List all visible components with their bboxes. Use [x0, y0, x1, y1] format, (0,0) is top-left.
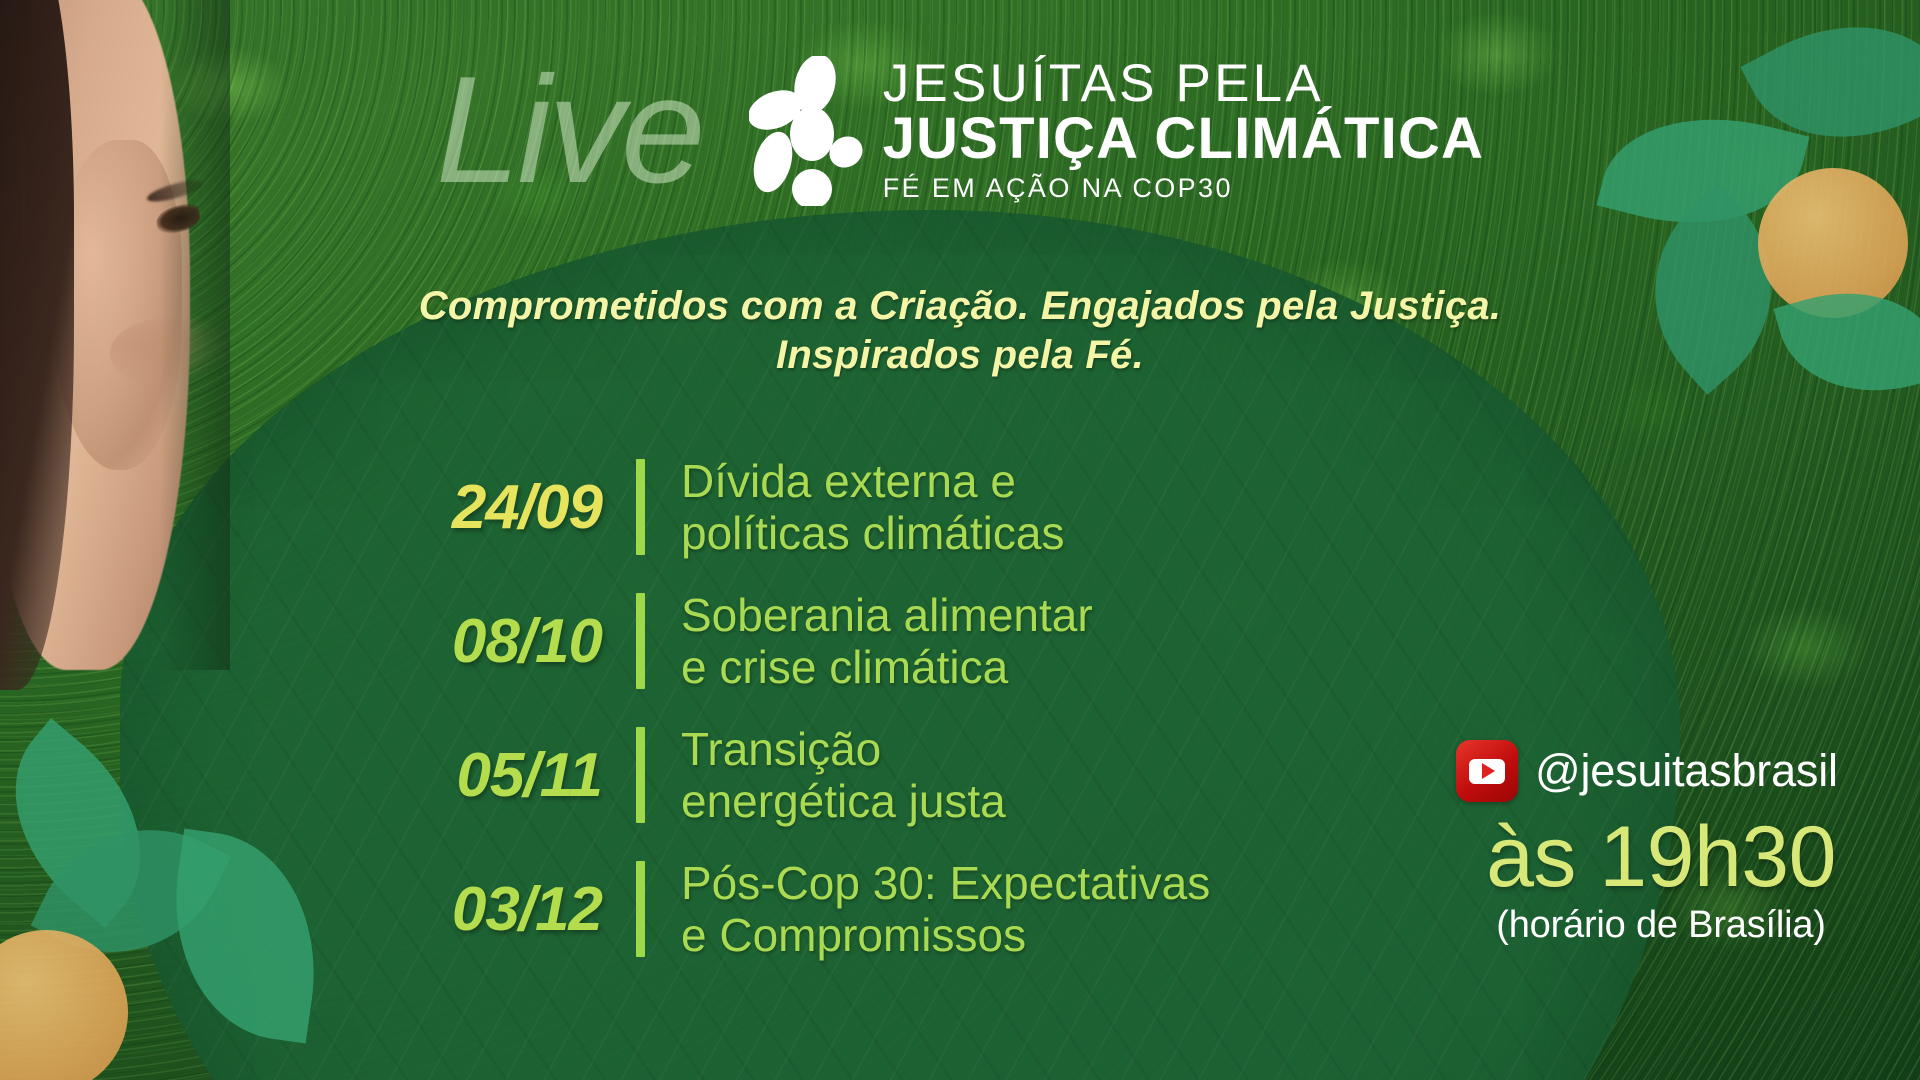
leaf-icon: [157, 829, 333, 1044]
schedule-topic-line-1: Transição: [681, 723, 1006, 775]
subtitle-line-1: Comprometidos com a Criação. Engajados p…: [0, 282, 1920, 331]
schedule-topic-line-1: Soberania alimentar: [681, 589, 1093, 641]
youtube-icon-screen: [1469, 759, 1505, 784]
brand-text: JESUÍTAS PELA JUSTIÇA CLIMÁTICA FÉ EM AÇ…: [883, 56, 1484, 204]
amber-circle-shape: [0, 930, 128, 1080]
youtube-icon[interactable]: [1456, 740, 1518, 802]
broadcast-info: @jesuitasbrasil às 19h30 (horário de Bra…: [1446, 740, 1876, 947]
schedule-row: 05/11 Transição energética justa: [340, 708, 1400, 842]
brand-lockup: JESUÍTAS PELA JUSTIÇA CLIMÁTICA FÉ EM AÇ…: [749, 56, 1484, 206]
live-label: Live: [436, 54, 703, 206]
schedule-date: 08/10: [340, 606, 636, 677]
schedule-date: 24/09: [340, 472, 636, 543]
live-announcement-poster: Live JESUÍTAS PELA JUSTIÇA CLIMÁTICA: [0, 0, 1920, 1080]
schedule-row: 08/10 Soberania alimentar e crise climát…: [340, 574, 1400, 708]
schedule-list: 24/09 Dívida externa e políticas climáti…: [340, 440, 1400, 976]
subtitle-line-2: Inspirados pela Fé.: [0, 331, 1920, 380]
poster-subtitle: Comprometidos com a Criação. Engajados p…: [0, 282, 1920, 380]
schedule-date: 03/12: [340, 874, 636, 945]
timezone-note: (horário de Brasília): [1446, 904, 1876, 947]
youtube-channel-row[interactable]: @jesuitasbrasil: [1446, 740, 1876, 802]
youtube-handle[interactable]: @jesuitasbrasil: [1535, 745, 1838, 797]
schedule-divider: [636, 861, 645, 957]
schedule-divider: [636, 593, 645, 689]
schedule-topic-line-2: energética justa: [681, 775, 1006, 827]
broadcast-time: às 19h30: [1446, 812, 1876, 902]
schedule-row: 24/09 Dívida externa e políticas climáti…: [340, 440, 1400, 574]
brand-line-1: JESUÍTAS PELA: [883, 56, 1484, 111]
schedule-row: 03/12 Pós-Cop 30: Expectativas e Comprom…: [340, 842, 1400, 976]
schedule-date: 05/11: [340, 740, 636, 811]
schedule-topic-line-2: e Compromissos: [681, 909, 1210, 961]
schedule-topic-line-2: e crise climática: [681, 641, 1093, 693]
decoration-bottom-left: [0, 780, 330, 1080]
flower-petal-logo-icon: [749, 56, 865, 206]
schedule-topic-line-1: Pós-Cop 30: Expectativas: [681, 857, 1210, 909]
schedule-topic-line-2: políticas climáticas: [681, 507, 1064, 559]
schedule-divider: [636, 727, 645, 823]
poster-header: Live JESUÍTAS PELA JUSTIÇA CLIMÁTICA: [0, 48, 1920, 238]
schedule-topic-line-1: Dívida externa e: [681, 455, 1064, 507]
schedule-divider: [636, 459, 645, 555]
schedule-topic: Dívida externa e políticas climáticas: [645, 455, 1064, 560]
schedule-topic: Transição energética justa: [645, 723, 1006, 828]
brand-line-2: JUSTIÇA CLIMÁTICA: [883, 109, 1484, 168]
schedule-topic: Soberania alimentar e crise climática: [645, 589, 1093, 694]
brand-tagline: FÉ EM AÇÃO NA COP30: [883, 173, 1484, 204]
schedule-topic: Pós-Cop 30: Expectativas e Compromissos: [645, 857, 1210, 962]
play-triangle-icon: [1482, 763, 1495, 779]
